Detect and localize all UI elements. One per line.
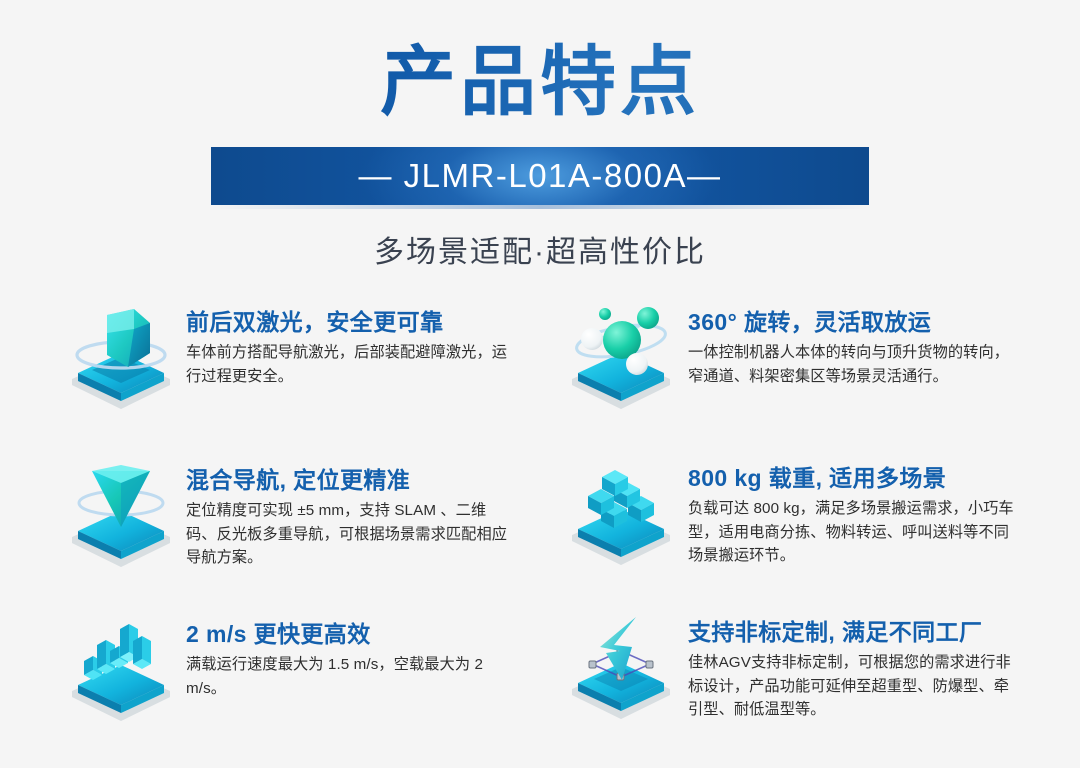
feature-item-customization: 支持非标定制, 满足不同工厂 佳林AGV支持非标定制，可根据您的需求进行非标设计…: [562, 605, 1022, 751]
page-title: 产品特点: [0, 0, 1080, 121]
feature-description: 佳林AGV支持非标定制，可根据您的需求进行非标设计，产品功能可延伸至超重型、防爆…: [688, 651, 1022, 722]
feature-item-payload: 800 kg 载重, 适用多场景 负载可达 800 kg，满足多场景搬运需求，小…: [562, 451, 1022, 599]
feature-item-dual-laser: 前后双激光，安全更可靠 车体前方搭配导航激光，后部装配避障激光，运行过程更安全。: [62, 295, 562, 447]
feature-title: 2 m/s 更快更高效: [186, 621, 516, 648]
feature-item-360-rotation: 360° 旋转，灵活取放运 一体控制机器人本体的转向与顶升货物的转向，窄通道、料…: [562, 295, 1022, 447]
bar-chart-speed-icon: [62, 609, 180, 727]
feature-description: 负载可达 800 kg，满足多场景搬运需求，小巧车型，适用电商分拣、物料转运、呼…: [688, 497, 1022, 568]
lightning-custom-icon: [562, 607, 680, 725]
feature-text: 混合导航, 定位更精准 定位精度可实现 ±5 mm，支持 SLAM 、二维码、反…: [180, 453, 516, 570]
feature-title: 支持非标定制, 满足不同工厂: [688, 619, 1022, 646]
feature-title: 前后双激光，安全更可靠: [186, 309, 516, 336]
feature-title: 800 kg 载重, 适用多场景: [688, 465, 1022, 492]
feature-title: 360° 旋转，灵活取放运: [688, 309, 1022, 336]
feature-text: 前后双激光，安全更可靠 车体前方搭配导航激光，后部装配避障激光，运行过程更安全。: [180, 295, 516, 388]
navigation-cone-icon: [62, 455, 180, 573]
feature-grid: 前后双激光，安全更可靠 车体前方搭配导航激光，后部装配避障激光，运行过程更安全。: [0, 295, 1080, 751]
page-subtitle: 多场景适配·超高性价比: [0, 227, 1080, 271]
shield-platform-icon: [62, 297, 180, 415]
feature-text: 支持非标定制, 满足不同工厂 佳林AGV支持非标定制，可根据您的需求进行非标设计…: [680, 605, 1022, 722]
feature-title: 混合导航, 定位更精准: [186, 467, 516, 494]
stacked-cubes-icon: [562, 453, 680, 571]
feature-description: 满载运行速度最大为 1.5 m/s，空载最大为 2 m/s。: [186, 653, 516, 700]
feature-text: 2 m/s 更快更高效 满载运行速度最大为 1.5 m/s，空载最大为 2 m/…: [180, 607, 516, 700]
feature-item-hybrid-navigation: 混合导航, 定位更精准 定位精度可实现 ±5 mm，支持 SLAM 、二维码、反…: [62, 453, 562, 599]
feature-item-speed: 2 m/s 更快更高效 满载运行速度最大为 1.5 m/s，空载最大为 2 m/…: [62, 607, 562, 751]
feature-description: 一体控制机器人本体的转向与顶升货物的转向，窄通道、料架密集区等场景灵活通行。: [688, 341, 1022, 388]
feature-description: 车体前方搭配导航激光，后部装配避障激光，运行过程更安全。: [186, 341, 516, 388]
feature-text: 800 kg 载重, 适用多场景 负载可达 800 kg，满足多场景搬运需求，小…: [680, 451, 1022, 568]
molecule-rotation-icon: [562, 297, 680, 415]
model-badge-container: — JLMR-L01A-800A—: [0, 147, 1080, 205]
feature-description: 定位精度可实现 ±5 mm，支持 SLAM 、二维码、反光板多重导航，可根据场景…: [186, 499, 516, 570]
model-badge: — JLMR-L01A-800A—: [211, 147, 869, 205]
feature-text: 360° 旋转，灵活取放运 一体控制机器人本体的转向与顶升货物的转向，窄通道、料…: [680, 295, 1022, 388]
